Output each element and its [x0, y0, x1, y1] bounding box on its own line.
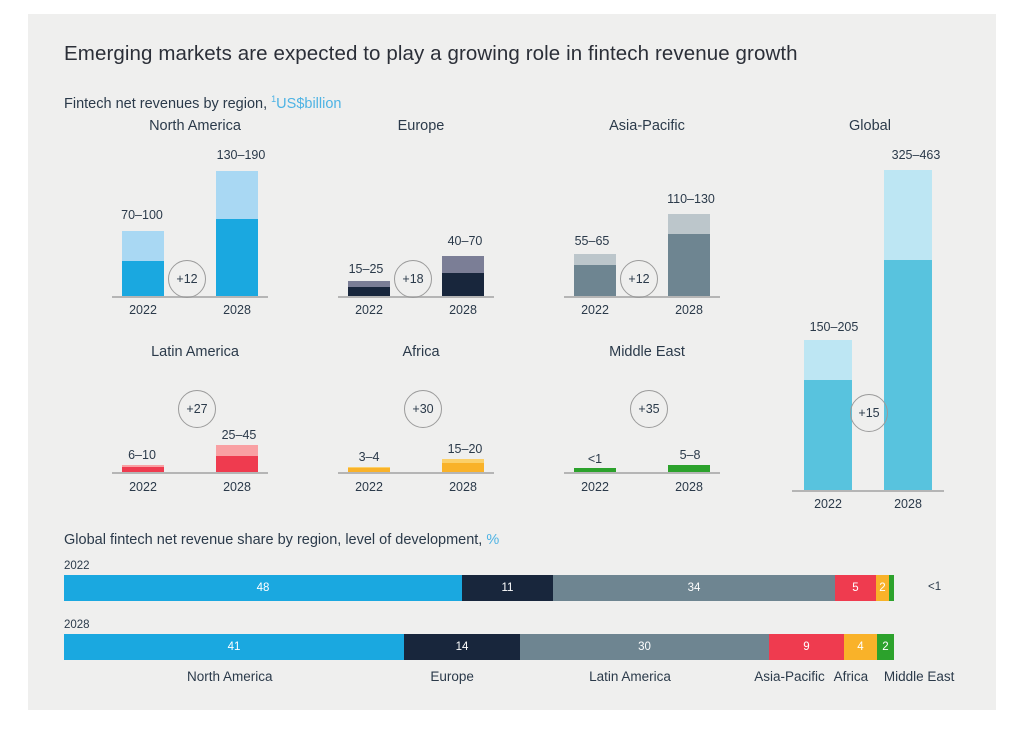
- axis-line: [112, 472, 268, 474]
- share-bar-2028[interactable]: 41 14 30 9 4 2: [64, 634, 894, 660]
- panel-global: Global 150–205 325–463 +15 2022 2028: [770, 118, 970, 504]
- share-segment-middle-east-label: <1: [928, 581, 941, 593]
- x-label-2028: 2028: [663, 303, 715, 317]
- page-title: Emerging markets are expected to play a …: [64, 42, 798, 66]
- value-label-2028: 40–70: [420, 234, 510, 248]
- bar-segment-low: [804, 380, 852, 490]
- bar-segment-high: [668, 214, 710, 234]
- bar-segment-low: [668, 465, 710, 472]
- value-label-2028: 325–463: [866, 148, 966, 162]
- panel-title-global: Global: [770, 118, 970, 134]
- axis-line: [338, 472, 494, 474]
- legend-europe: Europe: [396, 669, 509, 684]
- x-label-2028: 2028: [437, 480, 489, 494]
- value-label-2022: 3–4: [330, 450, 408, 464]
- x-label-2028: 2028: [437, 303, 489, 317]
- legend-africa: Africa: [828, 669, 875, 684]
- panel-title-middle-east: Middle East: [542, 344, 752, 360]
- value-label-2028: 5–8: [648, 448, 732, 462]
- share-segment-europe[interactable]: 14: [404, 634, 520, 660]
- bar-segment-low: [348, 287, 390, 296]
- share-title-unit: %: [486, 532, 499, 548]
- bar-2028[interactable]: [216, 171, 258, 296]
- panel-latin-america: Latin America +27 6–10 25–45 2022 2028: [90, 344, 300, 504]
- value-label-2022: 150–205: [786, 320, 882, 334]
- bar-2028[interactable]: [442, 256, 484, 296]
- bar-segment-low: [442, 463, 484, 472]
- legend-north-america: North America: [64, 669, 396, 684]
- bar-segment-high: [884, 170, 932, 260]
- bar-2028[interactable]: [668, 214, 710, 296]
- panel-europe: Europe 15–25 40–70 +18 2022 2028: [316, 118, 526, 308]
- share-segment-latin-america[interactable]: 34: [553, 575, 835, 601]
- panel-middle-east: Middle East +35 <1 5–8 2022 2028: [542, 344, 752, 504]
- bar-segment-high: [804, 340, 852, 380]
- share-segment-asia-pacific[interactable]: 5: [835, 575, 876, 601]
- bar-segment-high: [216, 445, 258, 456]
- subtitle-unit: US$billion: [276, 96, 341, 112]
- x-label-2028: 2028: [211, 303, 263, 317]
- panel-title-europe: Europe: [316, 118, 526, 134]
- legend-asia-pacific: Asia-Pacific: [751, 669, 827, 684]
- cagr-badge: +35: [630, 390, 668, 428]
- share-title-text: Global fintech net revenue share by regi…: [64, 532, 486, 548]
- slide-card: Emerging markets are expected to play a …: [28, 14, 996, 710]
- bar-segment-high: [442, 256, 484, 273]
- value-label-2028: 15–20: [420, 442, 510, 456]
- bar-segment-high: [216, 171, 258, 219]
- bar-segment-low: [668, 234, 710, 296]
- bar-2022[interactable]: [804, 340, 852, 490]
- x-label-2022: 2022: [802, 497, 854, 511]
- bar-2028[interactable]: [442, 459, 484, 472]
- cagr-badge: +15: [850, 394, 888, 432]
- share-segment-north-america[interactable]: 48: [64, 575, 462, 601]
- bar-segment-low: [574, 265, 616, 296]
- x-label-2022: 2022: [117, 303, 169, 317]
- value-label-2022: 6–10: [102, 448, 182, 462]
- value-label-2022: 55–65: [550, 234, 634, 248]
- bar-segment-high: [122, 231, 164, 261]
- chart-subtitle: Fintech net revenues by region, 1US$bill…: [64, 94, 341, 112]
- share-segment-asia-pacific[interactable]: 9: [769, 634, 844, 660]
- panel-title-latin-america: Latin America: [90, 344, 300, 360]
- x-label-2022: 2022: [117, 480, 169, 494]
- value-label-2028: 25–45: [194, 428, 284, 442]
- share-section-title: Global fintech net revenue share by regi…: [64, 532, 499, 548]
- bar-2028[interactable]: [884, 170, 932, 490]
- cagr-badge: +18: [394, 260, 432, 298]
- share-segment-middle-east[interactable]: 2: [877, 634, 894, 660]
- x-label-2028: 2028: [663, 480, 715, 494]
- value-label-2022: <1: [558, 452, 632, 466]
- value-label-2028: 130–190: [194, 148, 288, 162]
- share-segment-north-america[interactable]: 41: [64, 634, 404, 660]
- panel-title-africa: Africa: [316, 344, 526, 360]
- legend-latin-america: Latin America: [509, 669, 752, 684]
- subtitle-text: Fintech net revenues by region,: [64, 96, 271, 112]
- panel-africa: Africa +30 3–4 15–20 2022 2028: [316, 344, 526, 504]
- share-bar-2022[interactable]: 48 11 34 5 2: [64, 575, 894, 601]
- bar-segment-low: [216, 219, 258, 296]
- cagr-badge: +12: [620, 260, 658, 298]
- x-label-2028: 2028: [211, 480, 263, 494]
- panel-asia-pacific: Asia-Pacific 55–65 110–130 +12 2022 2028: [542, 118, 752, 308]
- share-segment-africa[interactable]: 2: [876, 575, 889, 601]
- cagr-badge: +12: [168, 260, 206, 298]
- bar-2028[interactable]: [216, 445, 258, 472]
- bar-segment-low: [884, 260, 932, 490]
- share-segment-latin-america[interactable]: 30: [520, 634, 769, 660]
- value-label-2028: 110–130: [644, 192, 738, 206]
- x-label-2022: 2022: [343, 303, 395, 317]
- cagr-badge: +27: [178, 390, 216, 428]
- share-year-2028: 2028: [64, 619, 90, 631]
- axis-line: [792, 490, 944, 492]
- bar-2022[interactable]: [348, 281, 390, 296]
- bar-segment-high: [574, 254, 616, 265]
- bar-2022[interactable]: [122, 231, 164, 296]
- legend-middle-east: Middle East: [874, 669, 964, 684]
- bar-2022[interactable]: [574, 254, 616, 296]
- bar-segment-low: [442, 273, 484, 296]
- bar-2028[interactable]: [668, 465, 710, 472]
- share-year-2022: 2022: [64, 560, 90, 572]
- cagr-badge: +30: [404, 390, 442, 428]
- share-segment-middle-east[interactable]: [889, 575, 894, 601]
- axis-line: [564, 472, 720, 474]
- bar-segment-low: [122, 261, 164, 296]
- panel-north-america: North America 70–100 130–190 +12 2022 20…: [90, 118, 300, 308]
- panel-title-asia-pacific: Asia-Pacific: [542, 118, 752, 134]
- bar-segment-low: [216, 456, 258, 472]
- bar-2022[interactable]: [122, 465, 164, 472]
- share-segment-europe[interactable]: 11: [462, 575, 553, 601]
- x-label-2022: 2022: [343, 480, 395, 494]
- x-label-2028: 2028: [882, 497, 934, 511]
- x-label-2022: 2022: [569, 480, 621, 494]
- value-label-2022: 70–100: [100, 208, 184, 222]
- share-segment-africa[interactable]: 4: [844, 634, 877, 660]
- share-legend: North America Europe Latin America Asia-…: [64, 669, 964, 684]
- x-label-2022: 2022: [569, 303, 621, 317]
- panel-title-north-america: North America: [90, 118, 300, 134]
